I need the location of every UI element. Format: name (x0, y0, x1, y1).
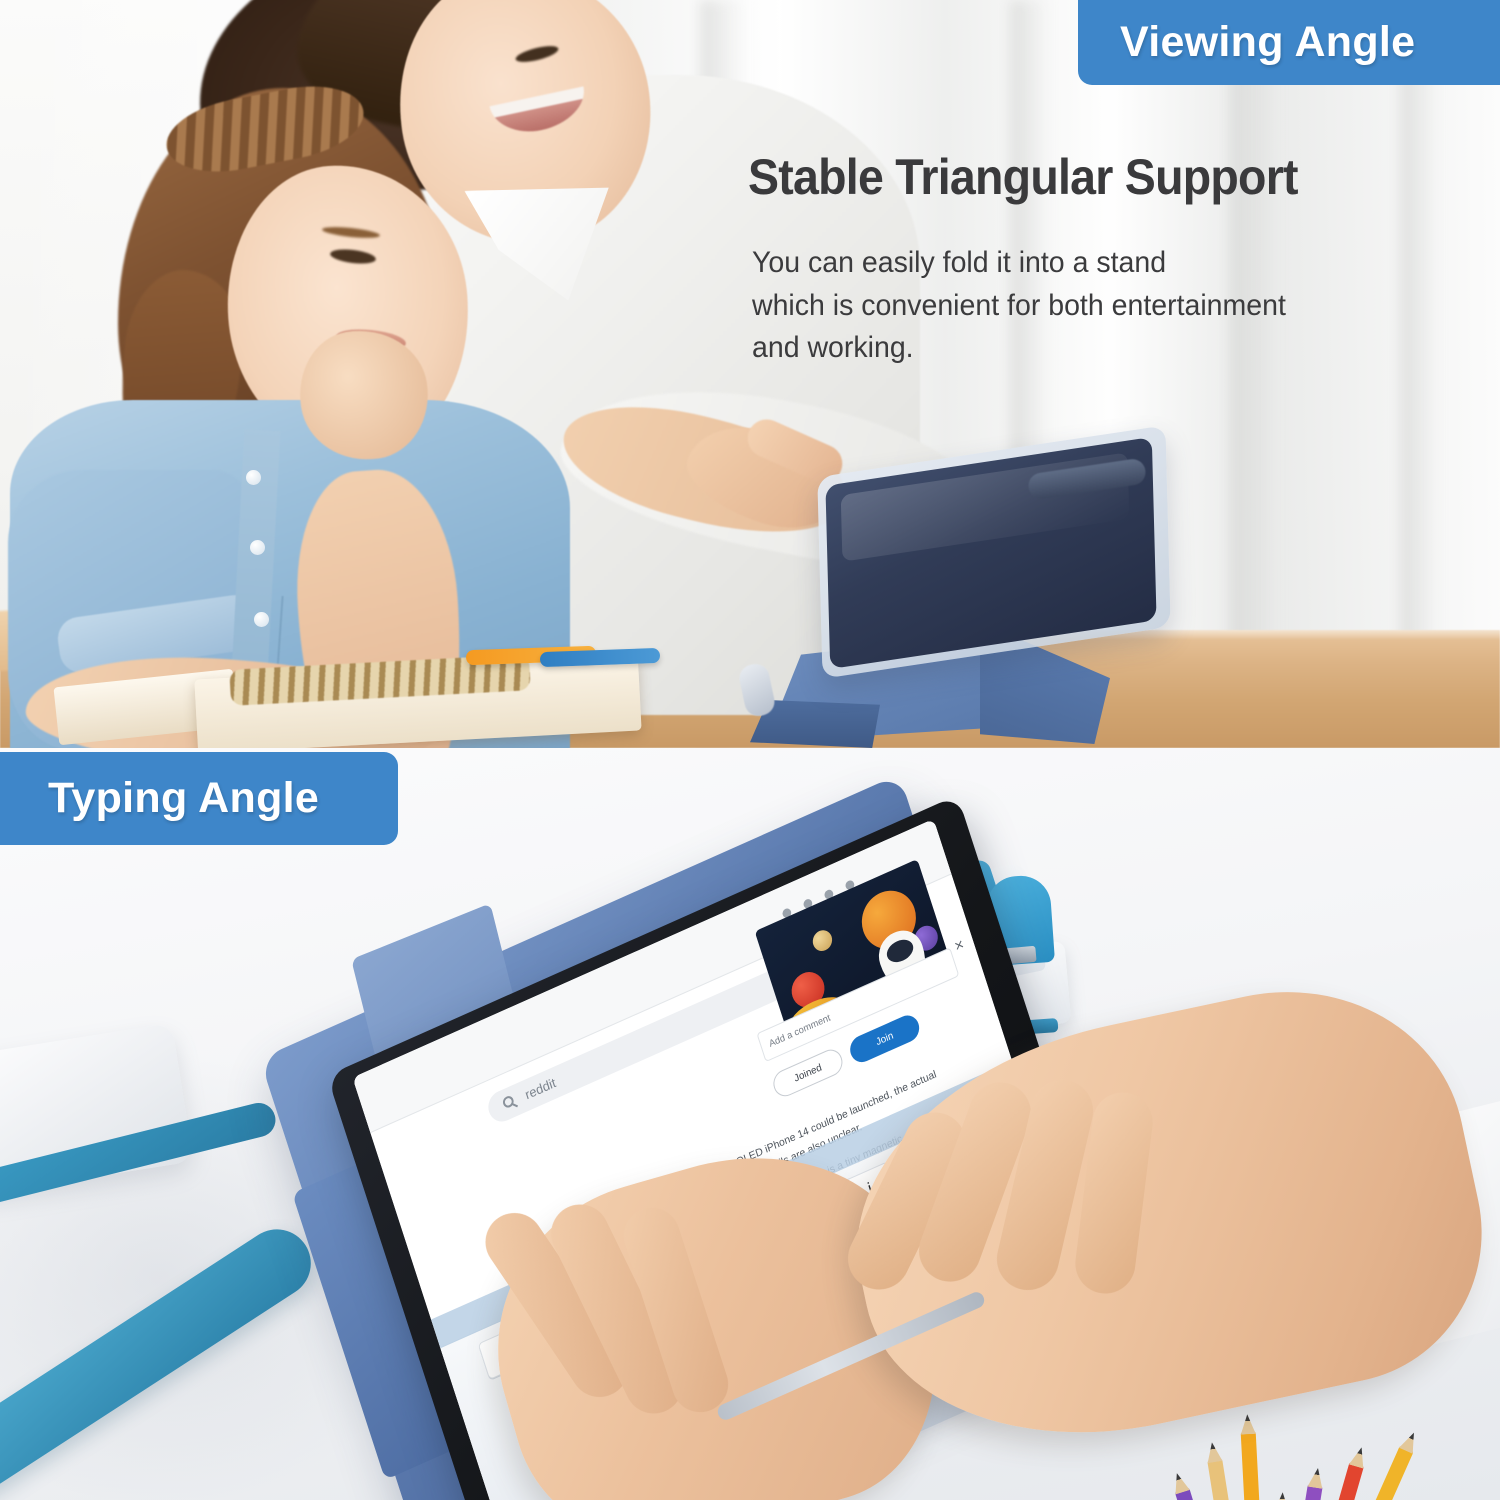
shirt-button (246, 470, 261, 485)
page-title: Stable Triangular Support (748, 148, 1436, 206)
close-icon[interactable]: × (952, 936, 966, 957)
badge-typing-angle: Typing Angle (0, 752, 398, 845)
shirt-button (250, 540, 265, 555)
description-line-1: You can easily fold it into a stand (752, 242, 1455, 285)
shirt-button (254, 612, 269, 627)
address-bar-text: reddit (523, 1075, 557, 1103)
feature-description: You can easily fold it into a stand whic… (752, 242, 1455, 370)
description-line-2: which is convenient for both entertainme… (752, 285, 1455, 328)
typing-angle-panel: reddit reddit Search Results surface r/s… (0, 748, 1500, 1500)
planet-icon (810, 927, 834, 954)
product-feature-sheet: Stable Triangular Support You can easily… (0, 0, 1500, 1500)
badge-viewing-angle: Viewing Angle (1078, 0, 1500, 85)
pencil (1285, 1484, 1323, 1500)
search-icon (502, 1094, 515, 1109)
description-line-3: and working. (752, 327, 1455, 370)
pencil (1320, 1445, 1414, 1500)
pencil (1241, 1431, 1266, 1500)
viewing-angle-panel: Stable Triangular Support You can easily… (0, 0, 1500, 748)
